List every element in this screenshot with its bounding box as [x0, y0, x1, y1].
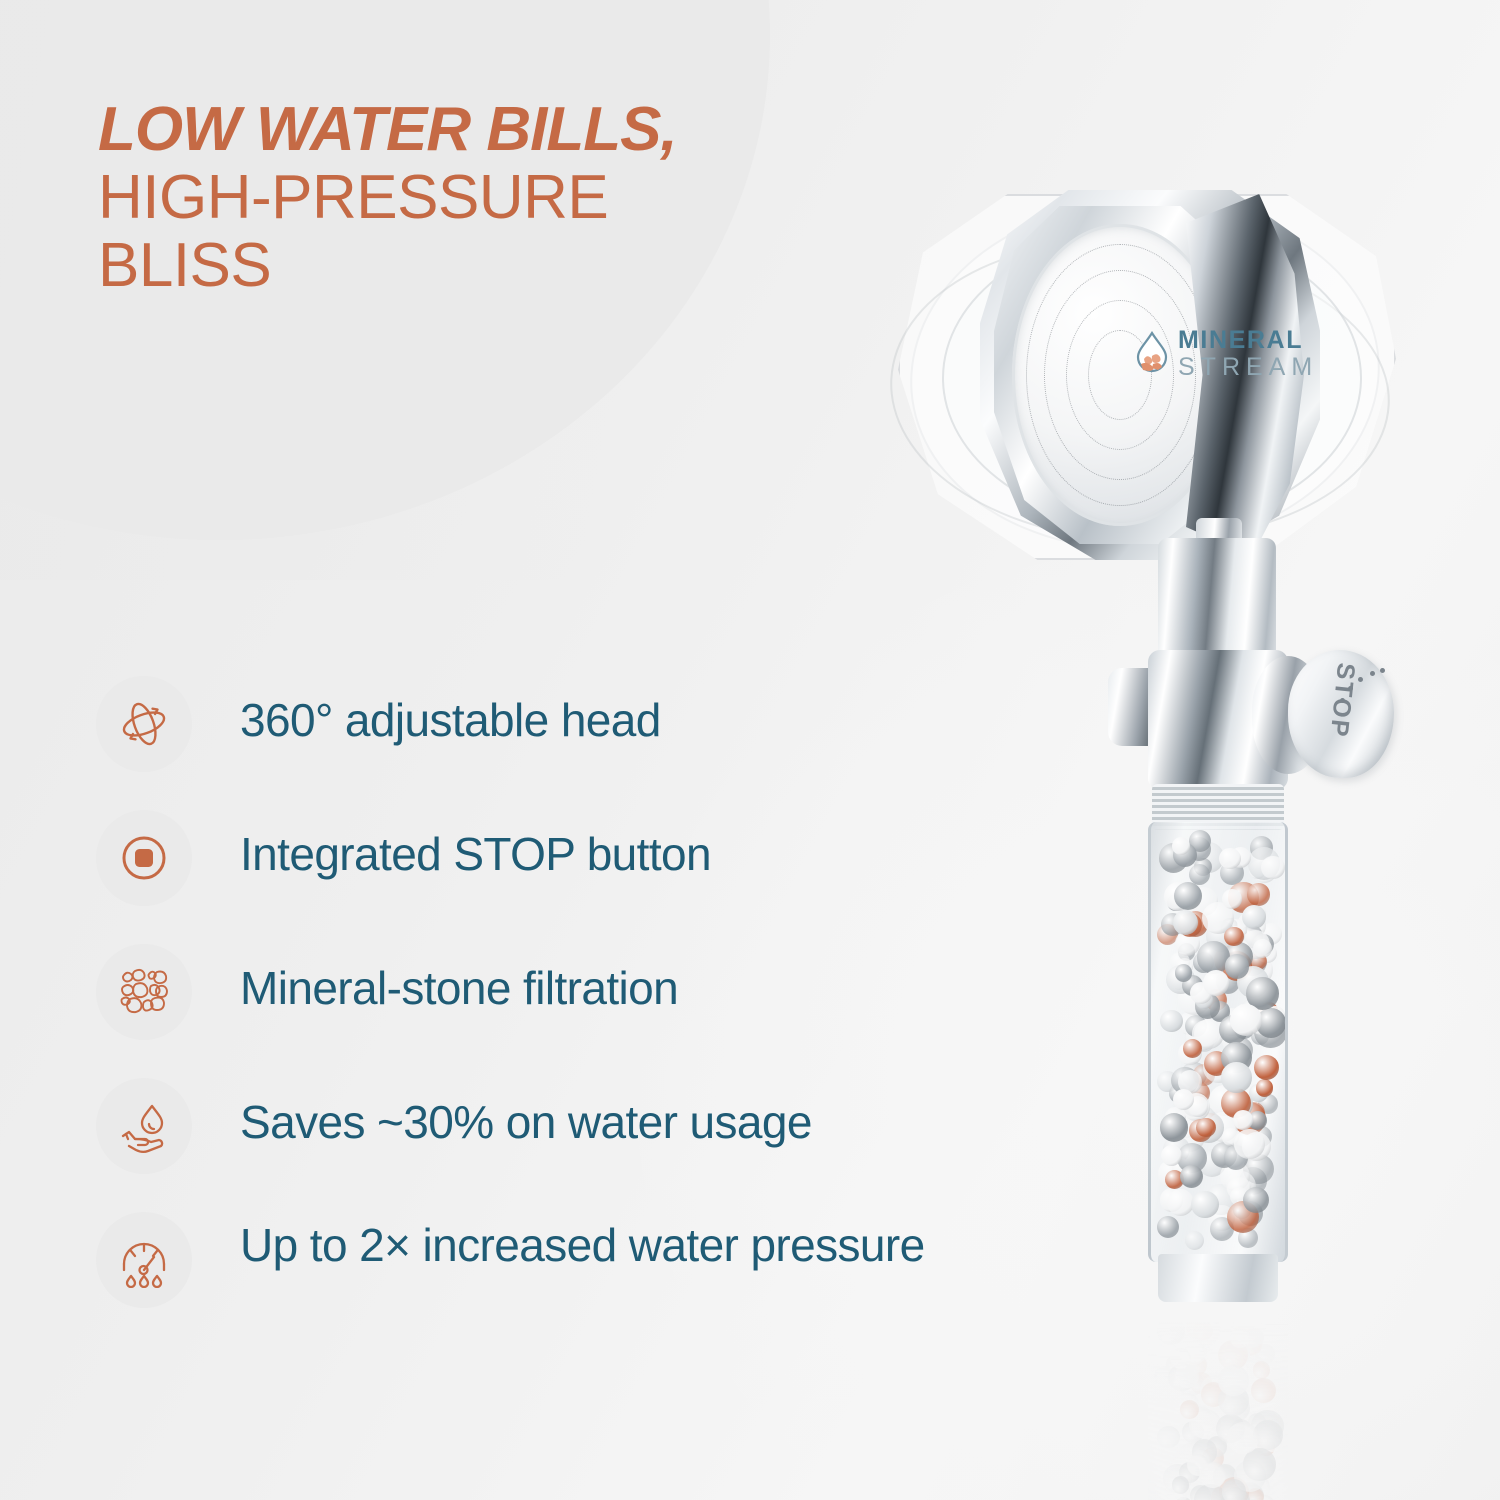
reflection-chamber: [1148, 1306, 1288, 1500]
mineral-bead: [1174, 882, 1202, 910]
mineral-bead: [1254, 1055, 1279, 1080]
filter-chamber-base: [1158, 1254, 1278, 1302]
mineral-bead: [1191, 1191, 1219, 1219]
mineral-filter-chamber: [1148, 822, 1288, 1262]
mineral-bead: [1180, 1165, 1203, 1188]
mineral-bead: [1193, 1321, 1212, 1340]
mineral-bead: [1243, 1187, 1269, 1213]
mineral-bead: [1227, 1422, 1259, 1454]
brand-logo: MINERAL STREAM: [1135, 328, 1318, 380]
mineral-bead: [1225, 954, 1250, 979]
mineral-bead: [1200, 1462, 1226, 1488]
mineral-bead: [1224, 927, 1243, 946]
product-infographic: LOW WATER BILLS, HIGH-PRESSURE BLISS 360…: [0, 0, 1500, 1500]
mineral-bead: [1196, 1118, 1215, 1137]
mineral-bead: [1183, 1039, 1202, 1058]
rotate-360-icon: [96, 676, 192, 772]
brand-name-primary: MINERAL: [1178, 328, 1318, 353]
mineral-bead: [1185, 1231, 1204, 1250]
stop-button-icon: [96, 810, 192, 906]
feature-label: Up to 2× increased water pressure: [240, 1212, 925, 1272]
mineral-bead: [1172, 1476, 1190, 1494]
feature-label: Mineral-stone filtration: [240, 944, 678, 1015]
brand-logo-text: MINERAL STREAM: [1178, 328, 1318, 380]
feature-label: Saves ~30% on water usage: [240, 1078, 812, 1149]
mineral-stones-icon: [96, 944, 192, 1040]
headline-line-3: BLISS: [98, 232, 818, 300]
mineral-bead: [1233, 1110, 1253, 1130]
mineral-bead: [1172, 837, 1190, 855]
mineral-bead: [1170, 1348, 1191, 1369]
hand-waterdrop-icon: [96, 1078, 192, 1174]
mineral-bead: [1157, 1216, 1179, 1238]
mineral-bead: [1157, 1316, 1186, 1345]
mineral-bead: [1175, 964, 1193, 982]
stop-button-dots: [1338, 664, 1384, 710]
mineral-bead: [1247, 883, 1270, 906]
feature-label: Integrated STOP button: [240, 810, 711, 881]
mineral-bead: [1173, 1089, 1194, 1110]
mineral-bead: [1219, 848, 1240, 869]
mineral-bead: [1222, 889, 1242, 909]
brand-name-secondary: STREAM: [1178, 355, 1318, 380]
stop-button[interactable]: STOP: [1288, 650, 1394, 778]
mineral-bead: [1167, 1189, 1194, 1216]
mineral-bead: [1261, 856, 1284, 879]
waterdrop-logo-icon: [1135, 331, 1169, 378]
mineral-bead: [1160, 1010, 1183, 1033]
headline-line-2: HIGH-PRESSURE: [98, 164, 818, 232]
mineral-bead: [1230, 1004, 1262, 1036]
mineral-bead: [1221, 1062, 1251, 1092]
mineral-bead: [1251, 1378, 1276, 1403]
mineral-bead: [1243, 1448, 1276, 1481]
mineral-bead: [1180, 1400, 1199, 1419]
mineral-bead: [1234, 1129, 1264, 1159]
product-photo: MINERAL STREAM STOP: [880, 150, 1500, 1500]
feature-label: 360° adjustable head: [240, 676, 661, 747]
pressure-gauge-icon: [96, 1212, 192, 1308]
product-reflection: [1138, 1306, 1298, 1500]
headline-line-1: LOW WATER BILLS,: [98, 96, 818, 164]
mineral-bead: [1242, 905, 1266, 929]
mineral-bead: [1222, 1479, 1247, 1500]
mineral-bead: [1253, 1361, 1271, 1379]
headline: LOW WATER BILLS, HIGH-PRESSURE BLISS: [98, 96, 818, 301]
mineral-bead: [1157, 1426, 1180, 1449]
mineral-bead: [1218, 1365, 1248, 1395]
